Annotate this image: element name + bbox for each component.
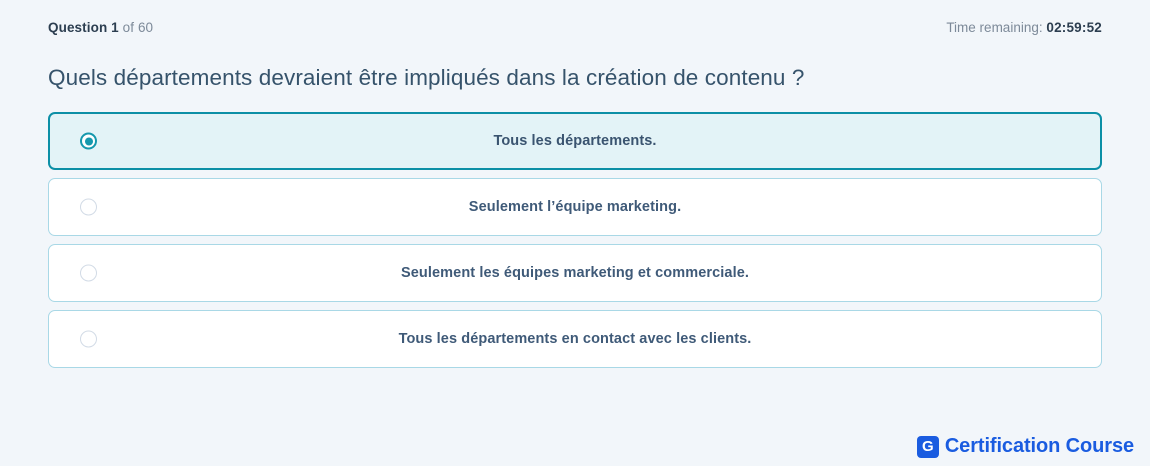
answer-option-1[interactable]: Tous les départements. — [48, 112, 1102, 170]
answer-option-3-label: Seulement les équipes marketing et comme… — [331, 265, 819, 281]
quiz-header: Question 1 of 60 Time remaining: 02:59:5… — [48, 0, 1102, 44]
brand-name: Certification Course — [945, 435, 1134, 458]
quiz-page: Question 1 of 60 Time remaining: 02:59:5… — [0, 0, 1150, 466]
radio-selected-dot — [85, 137, 93, 145]
answer-option-2[interactable]: Seulement l’équipe marketing. — [48, 178, 1102, 236]
logo-g-icon: G — [917, 436, 939, 458]
radio-button-2[interactable] — [80, 199, 97, 216]
answer-options-list: Tous les départements. Seulement l’équip… — [48, 112, 1102, 368]
question-counter: Question 1 of 60 — [48, 20, 153, 35]
brand-logo: G Certification Course — [917, 435, 1134, 458]
radio-button-1[interactable] — [80, 133, 97, 150]
question-text: Quels départements devraient être impliq… — [48, 64, 1102, 92]
time-remaining-value: 02:59:52 — [1046, 20, 1102, 35]
question-counter-label: Question — [48, 20, 107, 35]
question-counter-number: 1 — [111, 20, 119, 35]
answer-option-2-label: Seulement l’équipe marketing. — [399, 199, 751, 215]
radio-button-4[interactable] — [80, 331, 97, 348]
time-remaining-label: Time remaining: — [946, 20, 1042, 35]
answer-option-3[interactable]: Seulement les équipes marketing et comme… — [48, 244, 1102, 302]
answer-option-1-label: Tous les départements. — [423, 133, 726, 149]
answer-option-4-label: Tous les départements en contact avec le… — [329, 331, 822, 347]
radio-button-3[interactable] — [80, 265, 97, 282]
question-counter-total: of 60 — [123, 20, 154, 35]
answer-option-4[interactable]: Tous les départements en contact avec le… — [48, 310, 1102, 368]
time-remaining: Time remaining: 02:59:52 — [946, 20, 1102, 35]
